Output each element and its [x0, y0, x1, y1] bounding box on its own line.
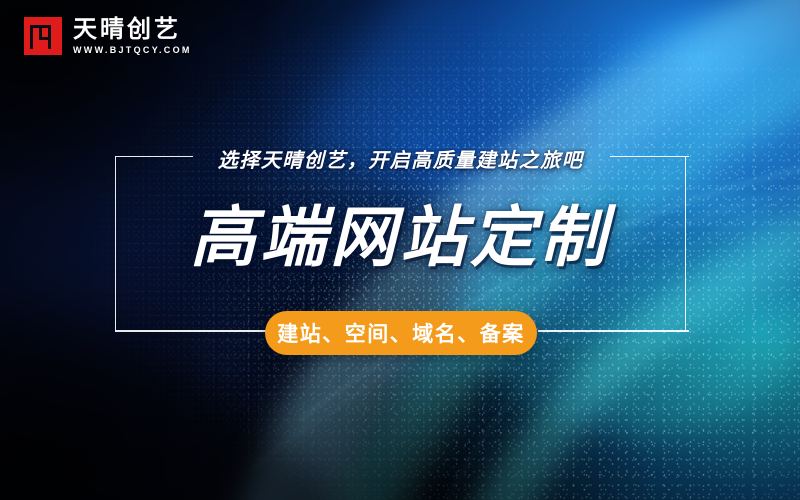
hero-tagline: 选择天晴创艺，开启高质量建站之旅吧 [218, 144, 584, 173]
hero-cta-pill[interactable]: 建站、空间、域名、备案 [265, 311, 537, 355]
brand-logo[interactable]: 天晴创艺 WWW.BJTQCY.COM [24, 17, 192, 55]
brand-website: WWW.BJTQCY.COM [73, 46, 192, 55]
hero-frame-bottom-segment [115, 330, 267, 332]
hero-frame-bottom-segment [538, 330, 689, 332]
promo-banner: 天晴创艺 WWW.BJTQCY.COM 选择天晴创艺，开启高质量建站之旅吧 高端… [0, 0, 800, 500]
hero-headline: 高端网站定制 [0, 205, 800, 271]
hero-tagline-row: 选择天晴创艺，开启高质量建站之旅吧 [115, 143, 686, 173]
brand-mark-icon [24, 17, 62, 55]
brand-text: 天晴创艺 WWW.BJTQCY.COM [73, 17, 192, 55]
brand-name-cn: 天晴创艺 [73, 17, 192, 41]
